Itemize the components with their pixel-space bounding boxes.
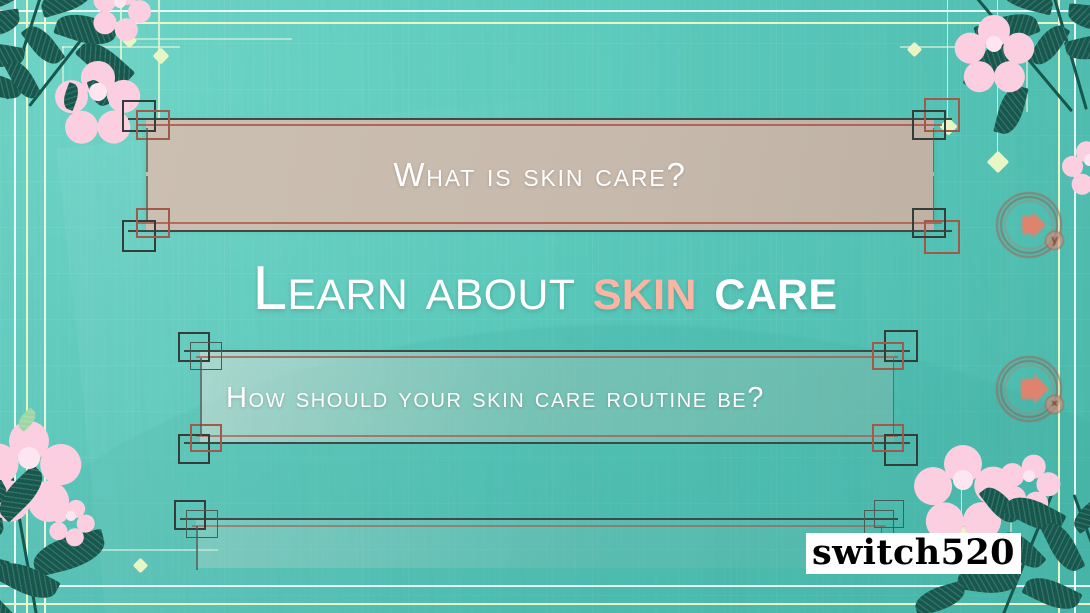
accent-line-tl-3 — [132, 38, 292, 40]
volume-button[interactable]: y — [996, 192, 1062, 258]
site-watermark: switch520 — [806, 533, 1021, 574]
mute-badge: × — [1045, 395, 1064, 414]
hanging-thread-6 — [997, 0, 999, 156]
question-banner-bottom — [180, 506, 898, 598]
headline-part-3: care — [697, 254, 838, 323]
accent-line-tl-2 — [62, 46, 64, 108]
question-banner-middle: How should your skin care routine be? — [184, 338, 910, 458]
speaker-mute-icon — [1021, 379, 1037, 399]
banner-top-text: What is skin care? — [128, 104, 952, 246]
question-banner-top: What is skin care? — [128, 104, 952, 246]
frame-line-top-outer — [0, 10, 1090, 12]
banner-bottom-text — [180, 506, 898, 598]
speaker-icon — [1022, 216, 1036, 234]
banner-middle-text: How should your skin care routine be? — [184, 338, 910, 458]
frame-line-top-inner — [0, 22, 1090, 24]
hanging-thread-12 — [961, 473, 963, 535]
headline-part-1: Learn about — [253, 254, 593, 323]
headline-accent: skin — [593, 254, 697, 323]
volume-badge: y — [1045, 231, 1064, 250]
main-headline: Learn about skin care — [0, 258, 1090, 320]
hanging-thread-1 — [120, 0, 122, 100]
accent-line-tr-2 — [1026, 46, 1028, 112]
frame-line-bottom-inner — [0, 603, 1090, 605]
slide-canvas: What is skin care? Learn about skin care… — [0, 0, 1090, 613]
mute-button[interactable]: × — [996, 356, 1062, 422]
